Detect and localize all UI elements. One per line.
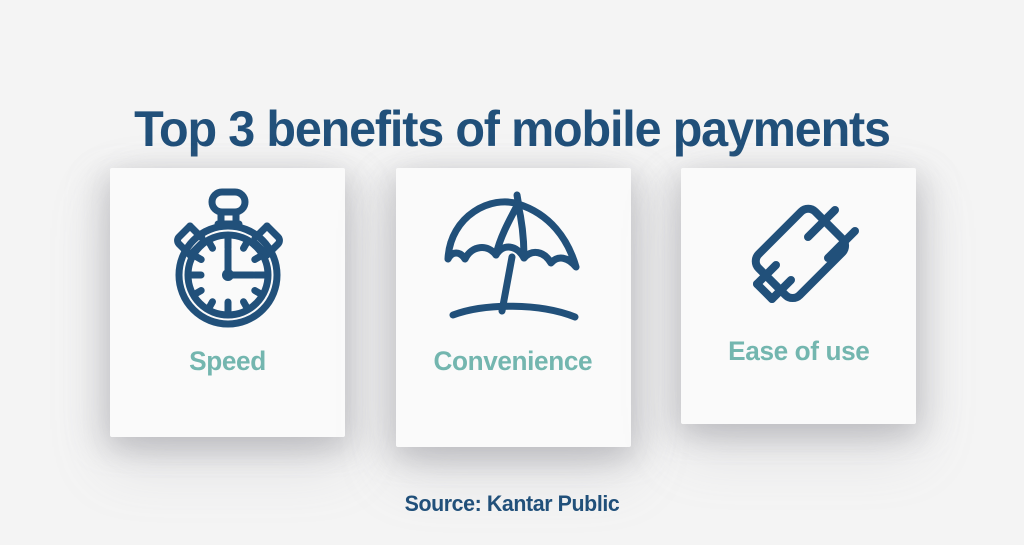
beach-umbrella-icon [396,168,631,346]
stopwatch-icon [110,168,345,346]
infographic-canvas: Top 3 benefits of mobile payments [0,0,1024,545]
benefit-card-ease-of-use[interactable]: Ease of use [681,168,916,424]
benefit-card-speed[interactable]: Speed [110,168,345,437]
page-title: Top 3 benefits of mobile payments [15,102,1008,157]
benefit-card-label: Convenience [434,346,593,377]
benefit-card-label: Ease of use [728,336,869,367]
benefit-card-list: Speed Convenience [110,168,916,448]
benefit-card-convenience[interactable]: Convenience [396,168,631,447]
power-plug-icon [681,168,916,336]
benefit-card-label: Speed [189,346,266,377]
source-attribution: Source: Kantar Public [15,491,1008,517]
